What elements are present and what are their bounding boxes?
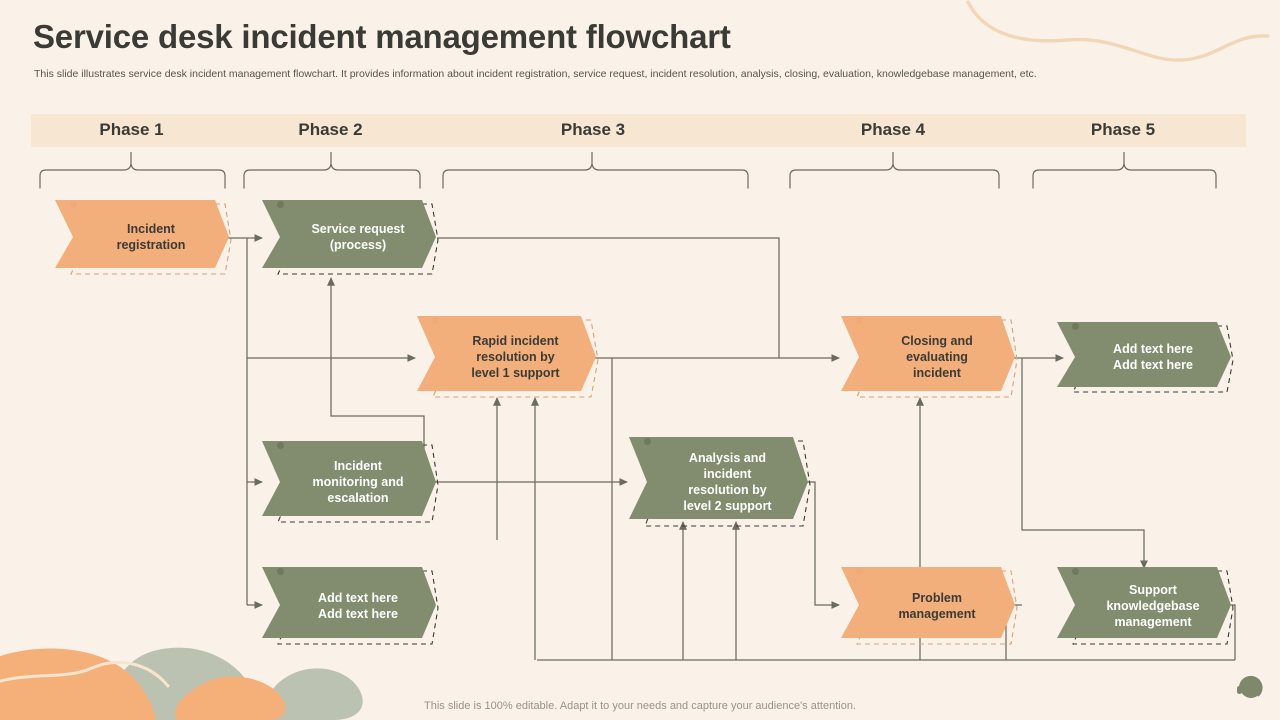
node-marker-dot	[856, 568, 863, 575]
node-rapid-incident-resolution[interactable]: Rapid incidentresolution bylevel 1 suppo…	[415, 312, 600, 402]
node-marker-dot	[277, 201, 284, 208]
footer-note: This slide is 100% editable. Adapt it to…	[0, 700, 1280, 712]
node-incident-registration[interactable]: Incidentregistration	[53, 196, 233, 278]
node-marker-dot	[856, 317, 863, 324]
node-shape	[53, 196, 233, 278]
node-shape	[260, 196, 440, 278]
node-shape	[1055, 563, 1235, 648]
headset-icon	[1232, 672, 1266, 706]
node-marker-dot	[1072, 323, 1079, 330]
node-closing-evaluating-incident[interactable]: Closing andevaluatingincident	[839, 312, 1019, 402]
node-shape	[627, 433, 812, 531]
node-marker-dot	[644, 438, 651, 445]
node-shape	[260, 563, 440, 648]
node-incident-monitoring[interactable]: Incidentmonitoring andescalation	[260, 437, 440, 527]
node-marker-dot	[277, 568, 284, 575]
node-marker-dot	[70, 201, 77, 208]
node-placeholder-left[interactable]: Add text hereAdd text here	[260, 563, 440, 648]
node-support-knowledgebase[interactable]: Supportknowledgebasemanagement	[1055, 563, 1235, 648]
node-placeholder-right[interactable]: Add text hereAdd text here	[1055, 318, 1235, 396]
node-service-request[interactable]: Service request(process)	[260, 196, 440, 278]
node-shape	[415, 312, 600, 402]
node-marker-dot	[1072, 568, 1079, 575]
node-shape	[1055, 318, 1235, 396]
node-marker-dot	[432, 317, 439, 324]
node-shape	[839, 312, 1019, 402]
node-problem-management[interactable]: Problemmanagement	[839, 563, 1019, 648]
slide-canvas: Service desk incident management flowcha…	[0, 0, 1280, 720]
node-marker-dot	[277, 442, 284, 449]
node-shape	[839, 563, 1019, 648]
node-analysis-resolution-level2[interactable]: Analysis andincidentresolution bylevel 2…	[627, 433, 812, 531]
node-shape	[260, 437, 440, 527]
